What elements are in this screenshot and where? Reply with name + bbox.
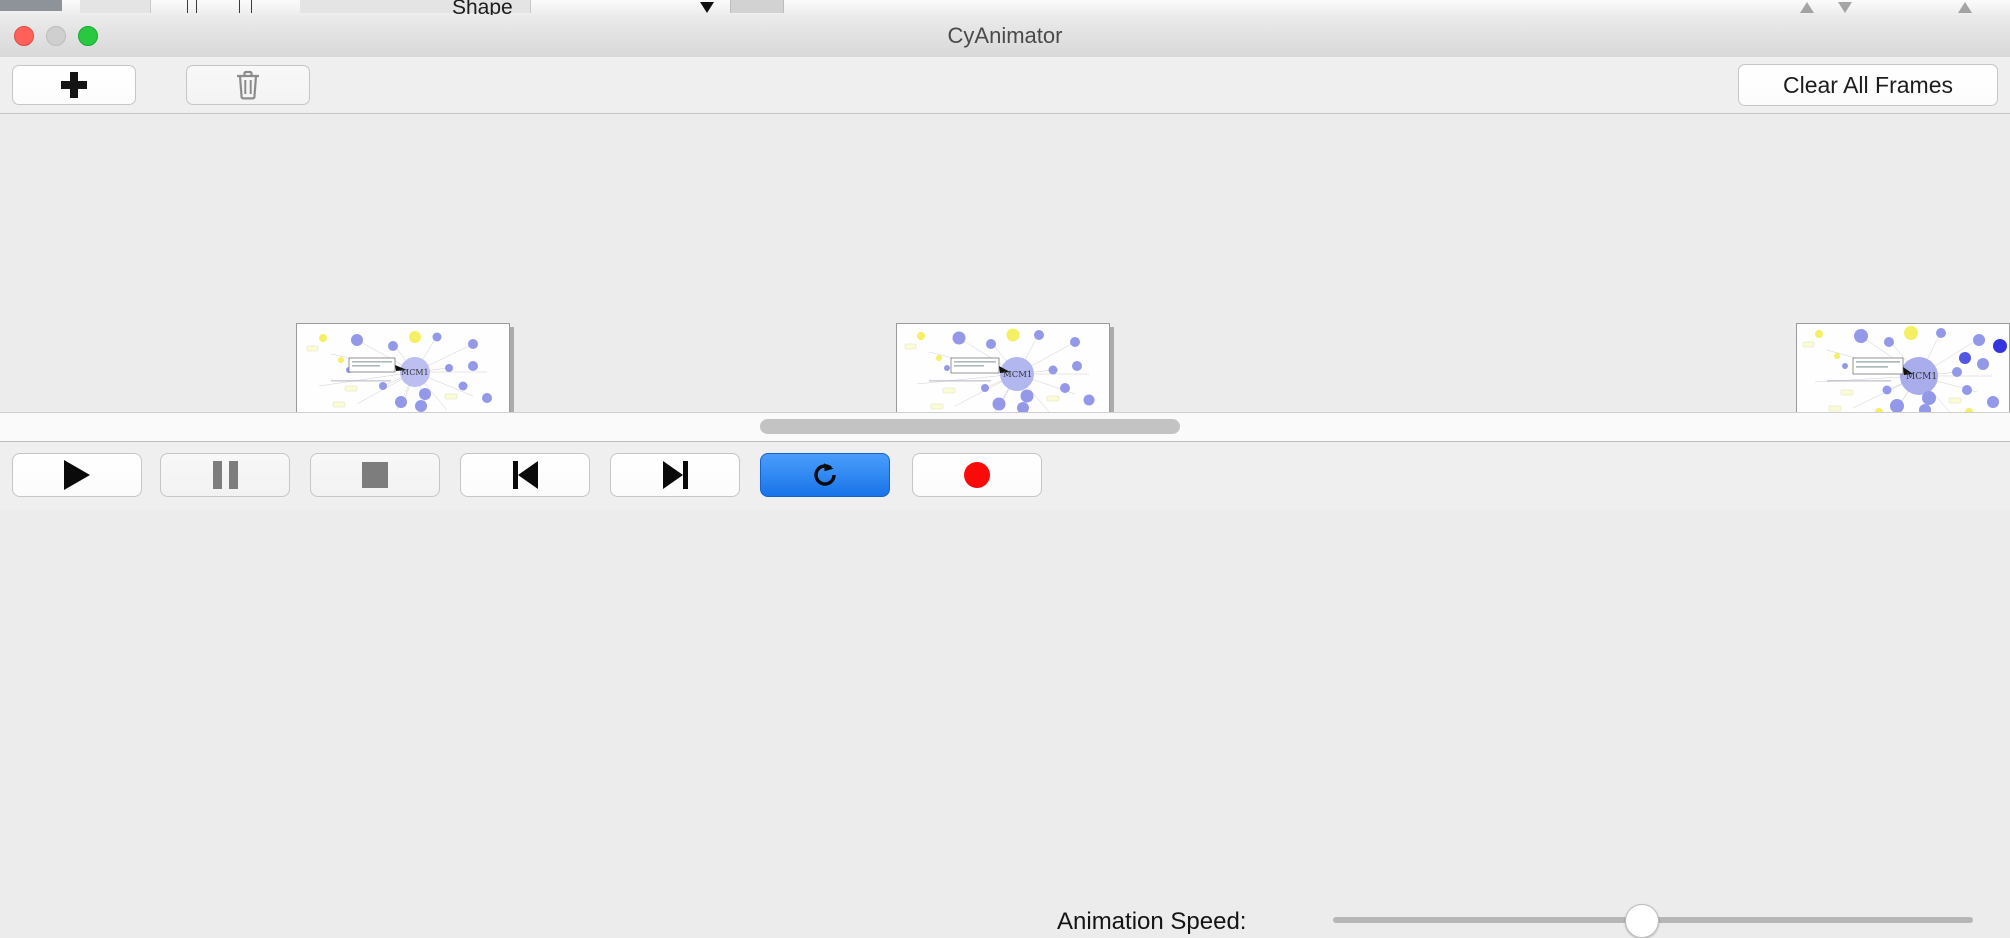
timeline-scrollbar[interactable]	[0, 413, 2010, 442]
toolbar: Clear All Frames	[0, 57, 2010, 114]
animation-speed-slider-thumb[interactable]	[1625, 904, 1659, 938]
skip-start-icon	[513, 461, 538, 489]
skip-to-end-button[interactable]	[610, 453, 740, 497]
timeline-panel[interactable]: MCM1	[0, 114, 2010, 413]
network-thumbnail-image: MCM1	[297, 324, 509, 413]
delete-frame-button[interactable]	[186, 65, 310, 105]
background-window-tick	[196, 0, 197, 13]
svg-text:MCM1: MCM1	[1003, 370, 1032, 380]
network-thumbnail-image: MCM1	[897, 324, 1109, 413]
play-icon	[64, 460, 90, 490]
record-button[interactable]	[912, 453, 1042, 497]
background-window-label: Shape	[452, 0, 513, 16]
background-window-tick	[251, 0, 252, 13]
background-window-caret-icon	[1958, 2, 1972, 13]
window-title: CyAnimator	[0, 15, 2010, 57]
background-window-chip	[80, 0, 151, 13]
title-bar[interactable]: CyAnimator	[0, 15, 2010, 58]
background-window-strip[interactable]: Shape	[0, 0, 2010, 16]
frame-thumbnail[interactable]: MCM1	[296, 323, 510, 413]
add-frame-button[interactable]	[12, 65, 136, 105]
cyanimator-window: Shape CyAnimator Clear All Frames	[0, 0, 2010, 510]
background-window-tick	[187, 0, 188, 13]
svg-text:MCM1: MCM1	[1906, 372, 1937, 382]
frame-thumbnail[interactable]: MCM1	[896, 323, 1110, 413]
pause-button[interactable]	[160, 453, 290, 497]
playback-controls: Animation Speed:	[0, 442, 2010, 510]
loop-button[interactable]	[760, 453, 890, 497]
background-window-caret-icon	[700, 2, 714, 13]
background-window-caret-icon	[1800, 2, 1814, 13]
scrollbar-thumb[interactable]	[760, 419, 1180, 434]
play-button[interactable]	[12, 453, 142, 497]
stop-icon	[362, 462, 388, 488]
trash-icon	[235, 70, 261, 100]
pause-icon	[213, 461, 238, 489]
skip-end-icon	[663, 461, 688, 489]
skip-to-start-button[interactable]	[460, 453, 590, 497]
plus-icon	[61, 72, 87, 98]
frame-thumbnail[interactable]: MCM1	[1796, 323, 2010, 413]
stop-button[interactable]	[310, 453, 440, 497]
animation-speed-label: Animation Speed:	[1057, 908, 1246, 936]
background-window-slot	[730, 0, 784, 13]
background-window-chip	[0, 0, 62, 11]
background-window-caret-icon	[1838, 2, 1852, 13]
loop-icon	[810, 460, 840, 490]
network-thumbnail-image: MCM1	[1797, 324, 2009, 413]
record-icon	[964, 462, 990, 488]
background-window-tick	[239, 0, 240, 13]
clear-all-frames-button[interactable]: Clear All Frames	[1738, 64, 1998, 106]
svg-text:MCM1: MCM1	[401, 368, 429, 377]
